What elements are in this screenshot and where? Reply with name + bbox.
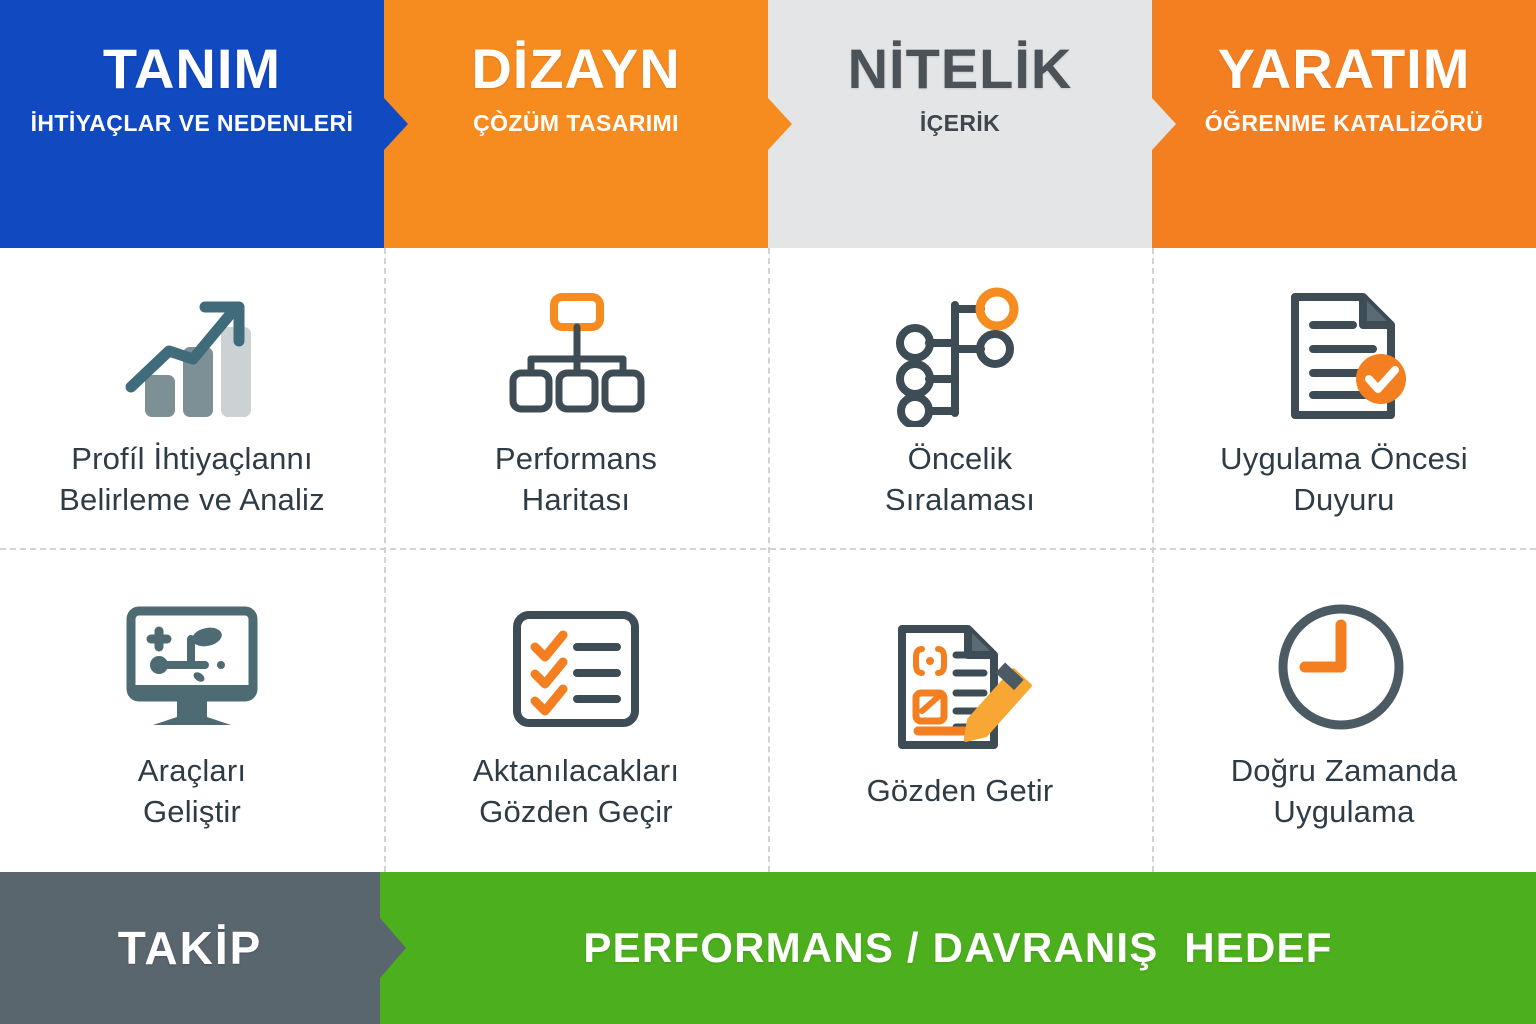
stage-header-tanim[interactable]: TANIM İHTİYAÇLAR VE NEDENLERİ <box>0 0 384 248</box>
activity-label: Öncelik Sıralaması <box>885 438 1035 520</box>
activity-cell-oncelik-siralamasi[interactable]: Öncelik Sıralaması <box>768 248 1152 560</box>
clock-icon <box>1269 594 1419 744</box>
activity-label-line1: Araçları <box>138 750 246 791</box>
growth-chart-icon <box>117 282 267 432</box>
infographic-page: TANIM İHTİYAÇLAR VE NEDENLERİ DİZAYN ÇÒZ… <box>0 0 1536 1024</box>
activity-label: Araçları Geliştir <box>138 750 246 832</box>
activity-label-line1: Öncelik <box>885 438 1035 479</box>
stage-header-yaratim[interactable]: YARATIM ÓĞRENME KATALİZÕRÜ <box>1152 0 1536 248</box>
activity-label-line1: Profíl İhtiyaçlannı <box>59 438 325 479</box>
activity-label-line1: Gözden Getir <box>867 770 1054 811</box>
stage-subtitle: ÇÒZÜM TASARIMI <box>473 111 679 136</box>
activity-label-line2: Gözden Geçir <box>473 791 679 832</box>
activity-label: Doğru Zamanda Uygulama <box>1231 750 1458 832</box>
activity-label-line1: Aktanılacakları <box>473 750 679 791</box>
footer-performance-label: PERFORMANS / DAVRANIŞ HEDEF <box>583 924 1332 972</box>
stage-header-nitelik[interactable]: NİTELİK İÇERİK <box>768 0 1152 248</box>
footer-takip-panel[interactable]: TAKİP <box>0 872 380 1024</box>
monitor-flowchart-icon <box>117 594 267 744</box>
stage-subtitle: ÓĞRENME KATALİZÕRÜ <box>1205 111 1484 136</box>
stage-title: TANIM <box>103 40 281 99</box>
document-pencil-icon <box>880 614 1040 764</box>
activity-label: Uygulama Öncesi Duyuru <box>1220 438 1468 520</box>
activity-label-line2: Belirleme ve Analiz <box>59 479 325 520</box>
footer-band: TAKİP PERFORMANS / DAVRANIŞ HEDEF <box>0 872 1536 1024</box>
activity-cell-araclari-gelistir[interactable]: Araçları Geliştir <box>0 560 384 872</box>
document-check-icon <box>1269 282 1419 432</box>
activity-label: Performans Haritası <box>495 438 657 520</box>
chevron-right-icon <box>380 918 406 978</box>
chevron-right-icon <box>768 98 792 150</box>
activity-cell-performans-haritasi[interactable]: Performans Haritası <box>384 248 768 560</box>
checklist-icon <box>501 594 651 744</box>
activity-cell-gozden-getir[interactable]: Gözden Getir <box>768 560 1152 872</box>
org-chart-icon <box>501 282 651 432</box>
activity-label-line1: Performans <box>495 438 657 479</box>
activity-label-line2: Duyuru <box>1220 479 1468 520</box>
activity-cell-aktarilacaklari-gozden-gecir[interactable]: Aktanılacakları Gözden Geçir <box>384 560 768 872</box>
stage-header-band: TANIM İHTİYAÇLAR VE NEDENLERİ DİZAYN ÇÒZ… <box>0 0 1536 248</box>
chevron-right-icon <box>384 98 408 150</box>
activity-cell-uygulama-oncesi-duyuru[interactable]: Uygulama Öncesi Duyuru <box>1152 248 1536 560</box>
activity-label: Aktanılacakları Gözden Geçir <box>473 750 679 832</box>
activity-label-line1: Uygulama Öncesi <box>1220 438 1468 479</box>
footer-performance-panel[interactable]: PERFORMANS / DAVRANIŞ HEDEF <box>380 872 1536 1024</box>
activity-cell-dogru-zamanda-uygulama[interactable]: Doğru Zamanda Uygulama <box>1152 560 1536 872</box>
stage-title: DİZAYN <box>471 40 680 99</box>
priority-tree-icon <box>885 282 1035 432</box>
stage-subtitle: İHTİYAÇLAR VE NEDENLERİ <box>31 111 354 136</box>
footer-takip-label: TAKİP <box>118 921 263 975</box>
activity-label: Profíl İhtiyaçlannı Belirleme ve Analiz <box>59 438 325 520</box>
activity-label-line2: Uygulama <box>1231 791 1458 832</box>
activity-label-line2: Geliştir <box>138 791 246 832</box>
stage-header-dizayn[interactable]: DİZAYN ÇÒZÜM TASARIMI <box>384 0 768 248</box>
activity-label-line1: Doğru Zamanda <box>1231 750 1458 791</box>
activity-label-line2: Sıralaması <box>885 479 1035 520</box>
stage-subtitle: İÇERİK <box>920 111 1000 136</box>
chevron-right-icon <box>1152 98 1176 150</box>
stage-title: NİTELİK <box>848 40 1073 99</box>
stage-title: YARATIM <box>1218 40 1471 99</box>
activity-cell-profil-ihtiyac[interactable]: Profíl İhtiyaçlannı Belirleme ve Analiz <box>0 248 384 560</box>
activity-label: Gözden Getir <box>867 770 1054 811</box>
activity-grid: Profíl İhtiyaçlannı Belirleme ve Analiz … <box>0 248 1536 872</box>
activity-label-line2: Haritası <box>495 479 657 520</box>
